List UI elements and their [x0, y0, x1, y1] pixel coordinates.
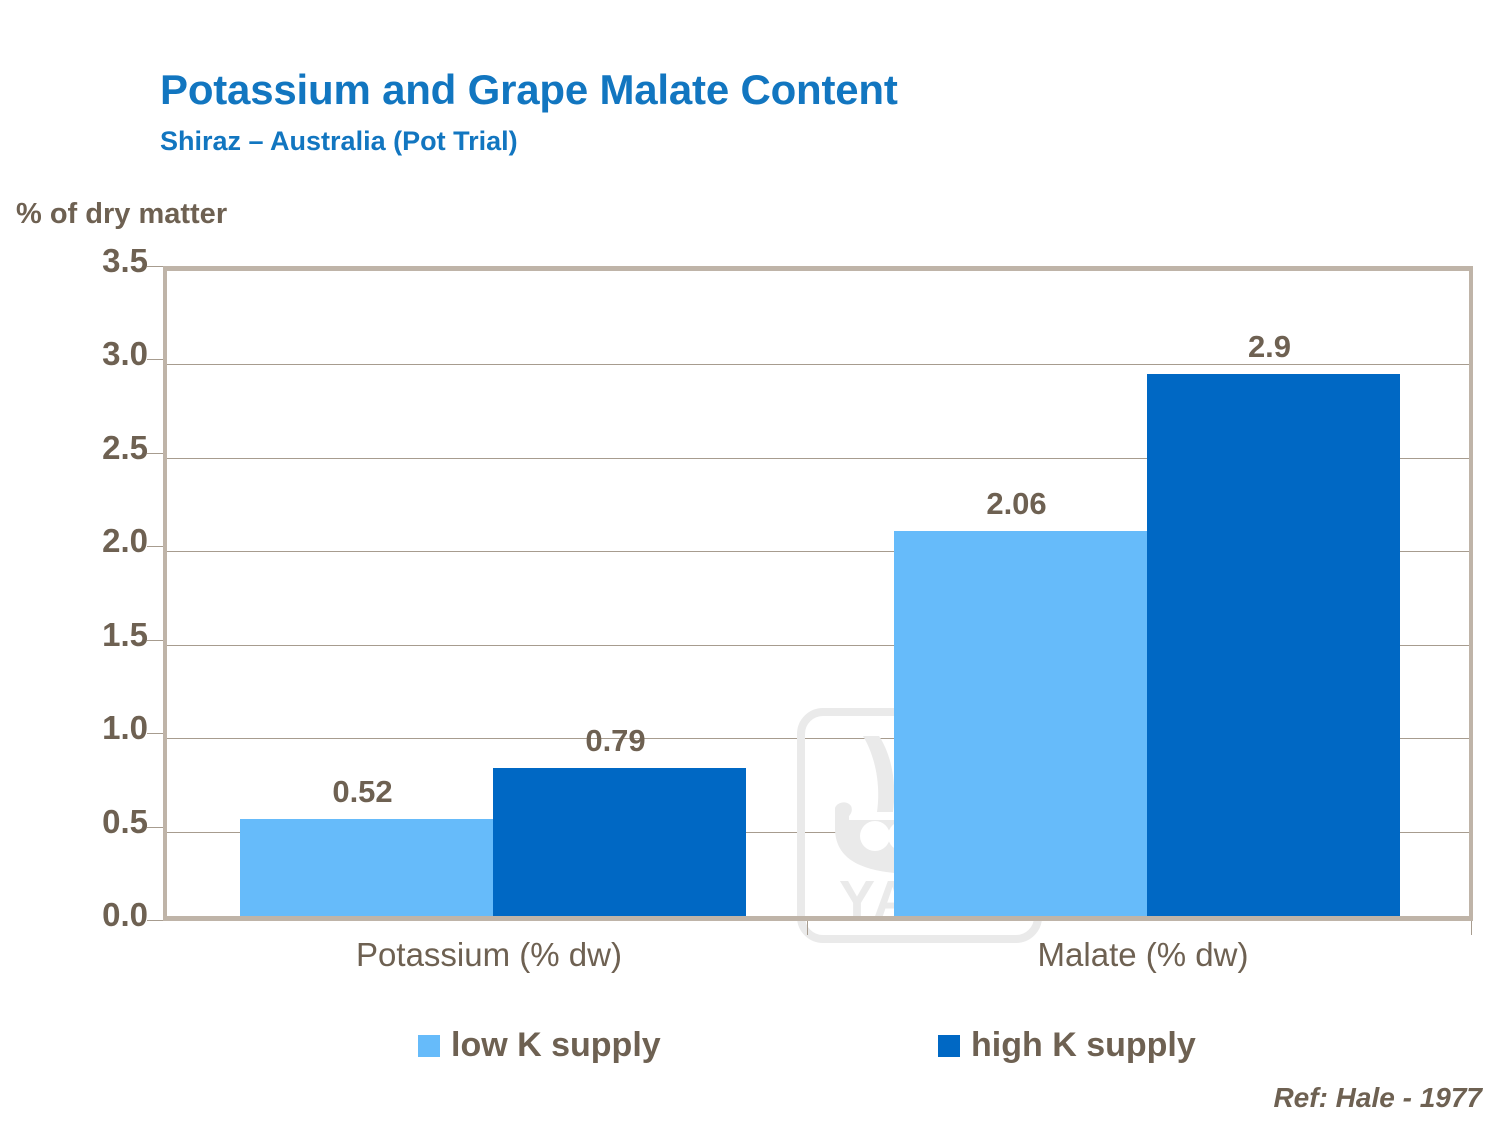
legend-item-low-k[interactable]: low K supply — [418, 1026, 661, 1065]
y-axis-tick-label: 0.5 — [30, 803, 148, 841]
y-axis-title: % of dry matter — [16, 198, 227, 231]
category-label: Malate (% dw) — [890, 936, 1396, 974]
y-axis-tick-label: 2.0 — [30, 522, 148, 560]
chart-subtitle: Shiraz – Australia (Pot Trial) — [160, 126, 518, 157]
y-axis-tick — [147, 920, 163, 921]
y-axis-tick — [147, 827, 163, 828]
y-axis-tick-label: 3.5 — [30, 242, 148, 280]
y-axis-tick — [147, 733, 163, 734]
y-axis-tick — [147, 266, 163, 267]
legend-swatch-high-k — [938, 1035, 960, 1057]
chart-page: Potassium and Grape Malate Content Shira… — [0, 0, 1500, 1126]
y-axis-tick — [147, 359, 163, 360]
bar-low-k[interactable] — [240, 819, 493, 916]
y-axis-tick — [147, 546, 163, 547]
y-axis-tick-label: 1.5 — [30, 616, 148, 654]
bar-value-label: 2.9 — [1143, 329, 1396, 365]
x-axis-end-tick — [1471, 921, 1472, 935]
legend-item-high-k[interactable]: high K supply — [938, 1026, 1196, 1065]
chart-title: Potassium and Grape Malate Content — [160, 66, 898, 114]
bar-high-k[interactable] — [1147, 374, 1400, 916]
y-axis-tick-label: 3.0 — [30, 335, 148, 373]
legend: low K supply high K supply — [0, 1020, 1500, 1076]
reference-note: Ref: Hale - 1977 — [1273, 1082, 1482, 1114]
bar-high-k[interactable] — [493, 768, 746, 916]
bar-value-label: 0.52 — [236, 774, 489, 810]
y-axis-tick — [147, 453, 163, 454]
x-axis-tick — [807, 921, 808, 935]
bar-value-label: 2.06 — [890, 486, 1143, 522]
y-axis-tick — [147, 640, 163, 641]
y-axis-tick-label: 2.5 — [30, 429, 148, 467]
category-label: Potassium (% dw) — [236, 936, 742, 974]
bar-value-label: 0.79 — [489, 723, 742, 759]
x-axis-line — [163, 916, 1473, 921]
y-axis-tick-label: 0.0 — [30, 896, 148, 934]
legend-label-low-k: low K supply — [451, 1026, 661, 1065]
legend-label-high-k: high K supply — [971, 1026, 1196, 1065]
legend-swatch-low-k — [418, 1035, 440, 1057]
bar-low-k[interactable] — [894, 531, 1147, 916]
y-axis-tick-label: 1.0 — [30, 709, 148, 747]
